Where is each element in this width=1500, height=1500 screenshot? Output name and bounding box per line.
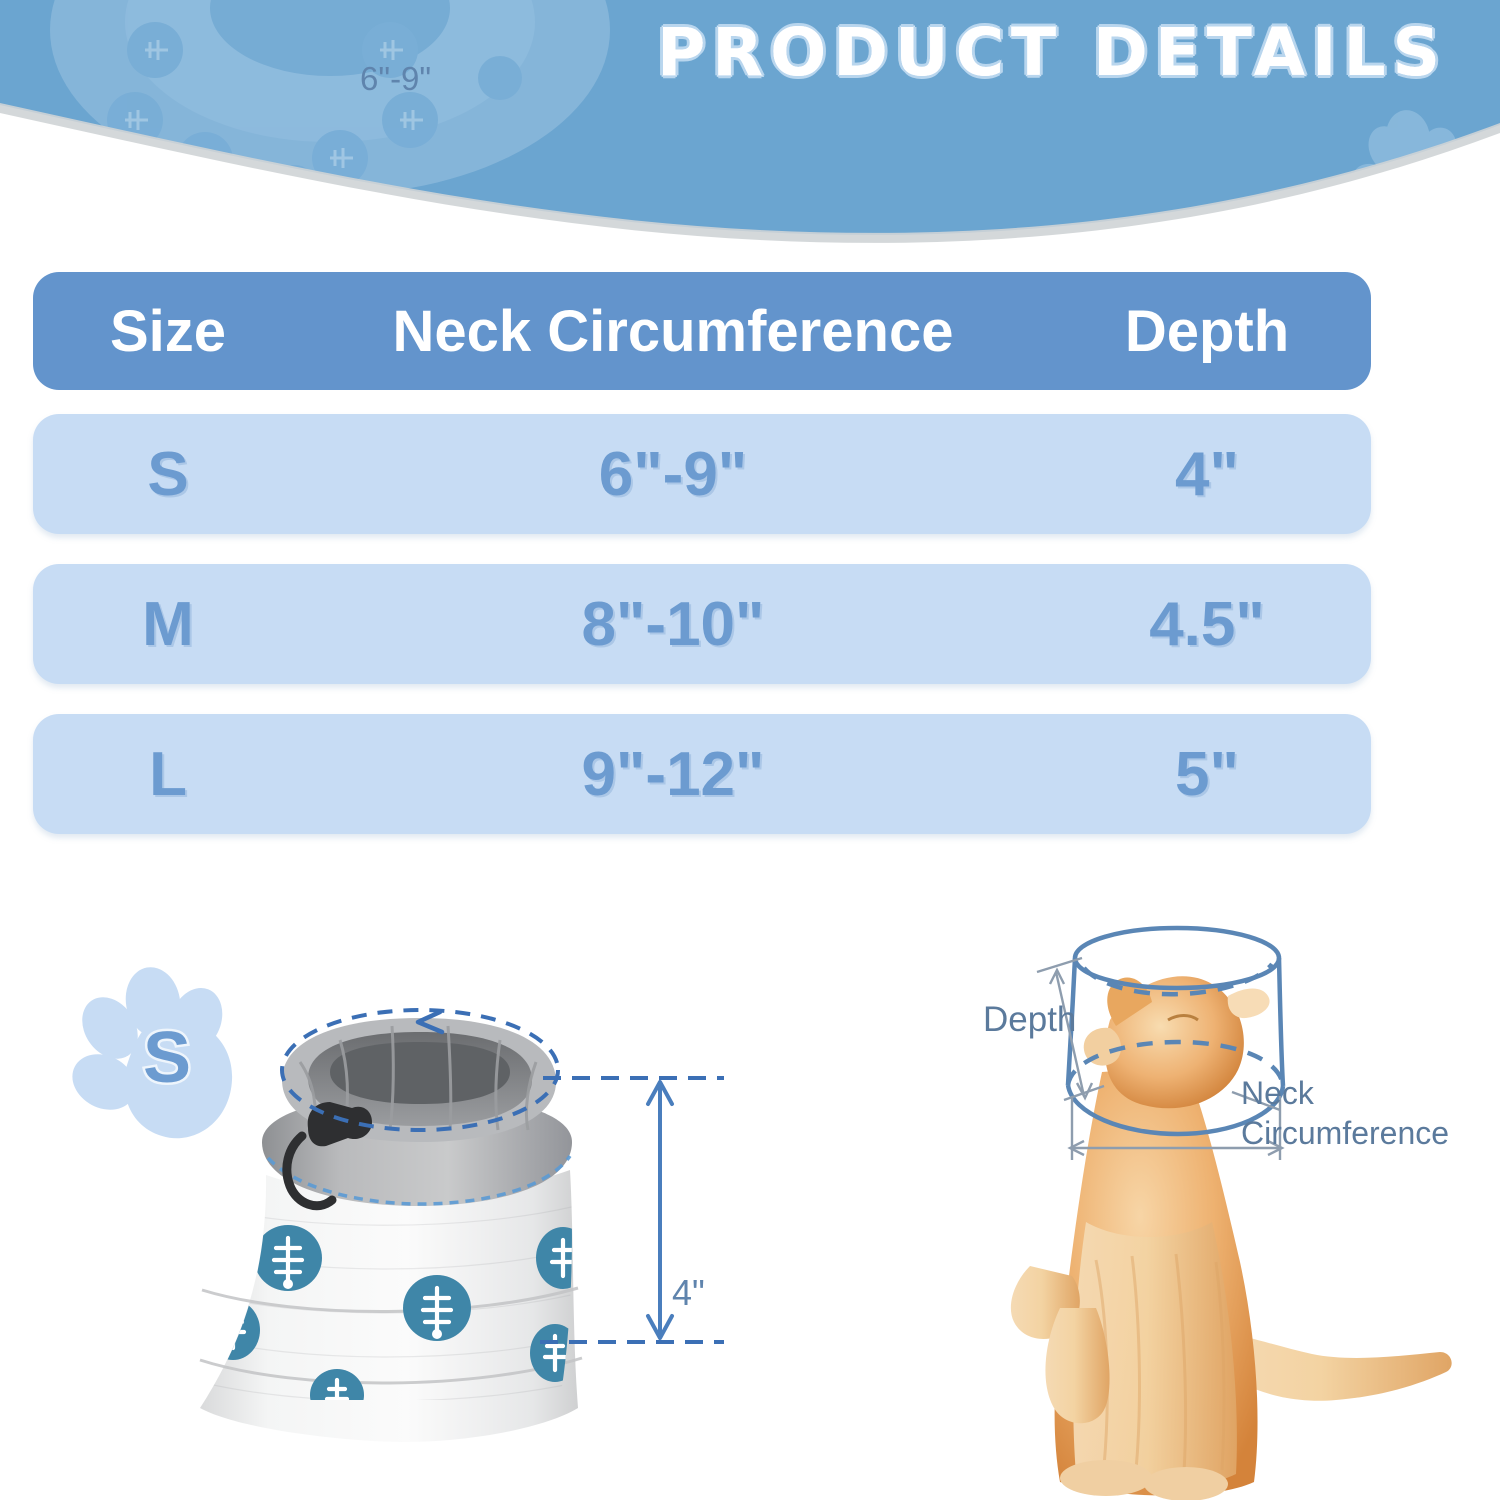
header-cell-depth: Depth — [1043, 298, 1371, 365]
table-row: L 9"-12" 5" — [33, 714, 1371, 834]
cat-depth-label: Depth — [983, 1000, 1076, 1040]
cell-depth: 4" — [1043, 439, 1371, 510]
cell-size: M — [33, 589, 303, 660]
depth-arrow-down — [648, 1316, 672, 1338]
neck-dim-arrowhead — [418, 1012, 442, 1032]
page-title-text: PRODUCT DETAILS — [657, 14, 1447, 91]
table-row: S 6"-9" 4" — [33, 414, 1371, 534]
cat-neck-circumference-label: Neck Circumference — [1241, 1073, 1449, 1153]
page-title: PRODUCT DETAILS — [612, 14, 1492, 91]
cell-size: L — [33, 739, 303, 810]
neck-circumference-dashed-ellipse — [282, 1010, 558, 1130]
cell-neck: 8"-10" — [303, 589, 1043, 660]
cell-depth: 5" — [1043, 739, 1371, 810]
cat-tail — [1214, 1332, 1452, 1401]
header-cell-neck: Neck Circumference — [303, 298, 1043, 365]
depth-arrow-up — [648, 1082, 672, 1104]
cell-depth: 4.5" — [1043, 589, 1371, 660]
cat-body — [1055, 1066, 1258, 1496]
page-banner: PRODUCT DETAILS — [0, 0, 1500, 250]
neck-label-line-2: Circumference — [1241, 1113, 1449, 1153]
left-depth-dimension-label: 4" — [672, 1272, 705, 1314]
cat-hind-foot-left — [1060, 1460, 1152, 1496]
neck-label-line-1: Neck — [1241, 1073, 1449, 1113]
table-row: M 8"-10" 4.5" — [33, 564, 1371, 684]
left-neck-dimension-label: 6"-9" — [360, 60, 431, 98]
badge-letter: S — [143, 1018, 191, 1098]
cat-chest — [1073, 1222, 1237, 1488]
left-dimension-annotations — [282, 1010, 724, 1342]
cat-front-paw — [1011, 1266, 1080, 1339]
drawstring-toggle — [287, 1102, 372, 1206]
header-cell-size: Size — [33, 298, 303, 365]
recovery-collar-product — [190, 1018, 590, 1442]
fishbone-pattern — [190, 1199, 590, 1421]
cell-size: S — [33, 439, 303, 510]
size-chart-table: Size Neck Circumference Depth S 6"-9" 4"… — [33, 272, 1371, 864]
cone-top-back-dashed-arc — [1084, 964, 1272, 994]
table-header-row: Size Neck Circumference Depth — [33, 272, 1371, 390]
cat-wearing-cone-diagram — [1011, 928, 1452, 1500]
cell-neck: 9"-12" — [303, 739, 1043, 810]
cell-neck: 6"-9" — [303, 439, 1043, 510]
cat-hind-foot-right — [1144, 1467, 1228, 1500]
size-badge-paw: S — [63, 963, 232, 1138]
cat-front-leg — [1045, 1308, 1109, 1423]
